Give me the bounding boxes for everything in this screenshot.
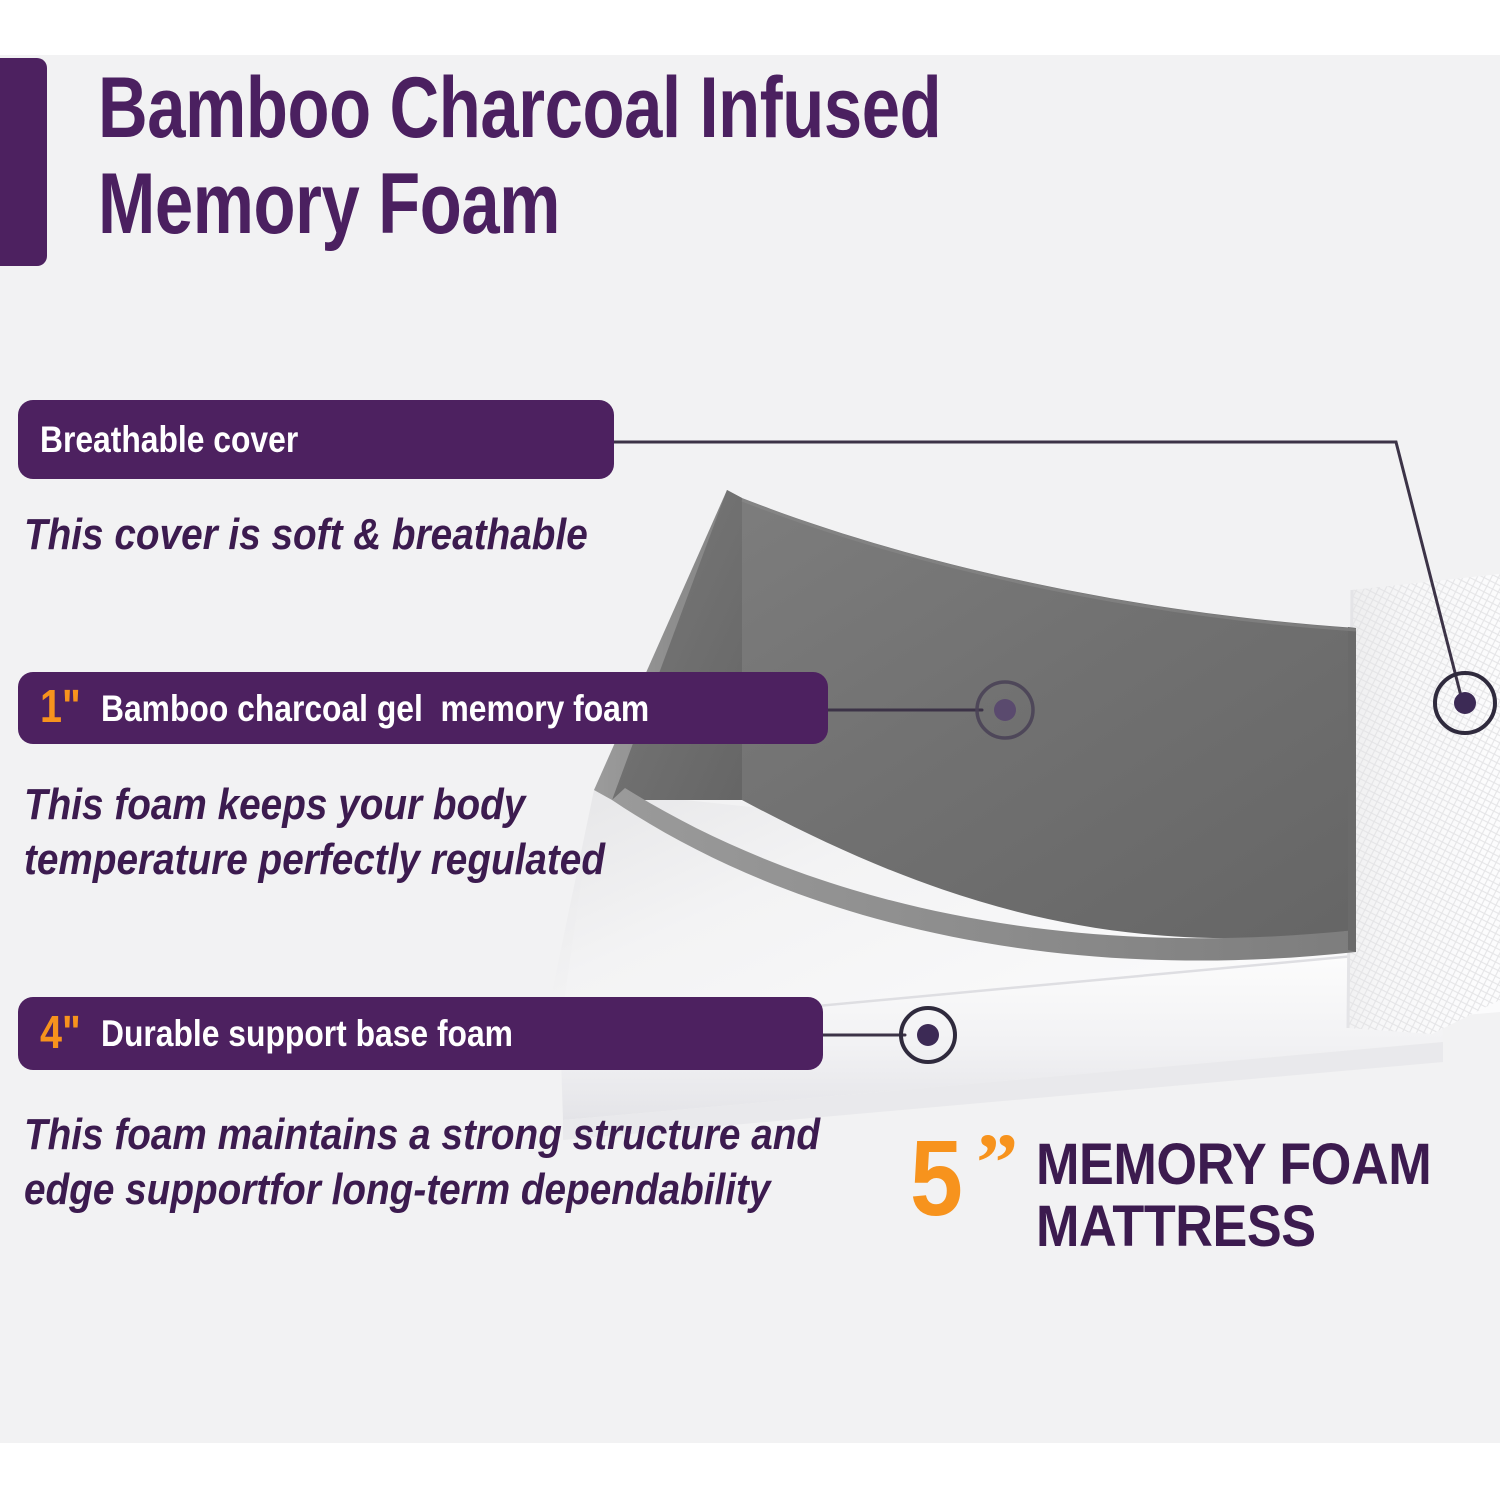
callout-description-base: This foam maintains a strong structure a… bbox=[24, 1108, 820, 1217]
desc-cover-line-1: This cover is soft & breathable bbox=[24, 508, 588, 563]
infographic-page: Bamboo Charcoal Infused Memory Foam bbox=[0, 0, 1500, 1500]
desc-gel-line-2: temperature perfectly regulated bbox=[24, 833, 605, 888]
desc-gel-line-1: This foam keeps your body bbox=[24, 778, 605, 833]
thickness-label-line-2: MATTRESS bbox=[1036, 1196, 1431, 1258]
page-title-line-2: Memory Foam bbox=[98, 156, 962, 252]
callout-measure-base: 4" bbox=[40, 1009, 81, 1055]
page-title-line-1: Bamboo Charcoal Infused bbox=[98, 60, 962, 156]
callout-pill-breathable-cover[interactable]: Breathable cover bbox=[18, 400, 614, 479]
thickness-number: 5 bbox=[910, 1128, 963, 1227]
callout-label-gel: Bamboo charcoal gel memory foam bbox=[101, 690, 649, 727]
callout-label-base: Durable support base foam bbox=[101, 1015, 513, 1052]
desc-base-line-2: edge supportfor long-term dependability bbox=[24, 1163, 820, 1218]
callout-pill-gel-memory-foam[interactable]: 1" Bamboo charcoal gel memory foam bbox=[18, 672, 828, 744]
desc-base-line-1: This foam maintains a strong structure a… bbox=[24, 1108, 820, 1163]
thickness-label-line-1: MEMORY FOAM bbox=[1036, 1134, 1431, 1196]
thickness-label: MEMORY FOAM MATTRESS bbox=[1036, 1134, 1431, 1258]
callout-pill-support-base-foam[interactable]: 4" Durable support base foam bbox=[18, 997, 823, 1070]
callout-label-cover: Breathable cover bbox=[40, 421, 298, 458]
header-accent-bar bbox=[0, 58, 47, 266]
page-title: Bamboo Charcoal Infused Memory Foam bbox=[98, 60, 962, 253]
callout-description-gel: This foam keeps your body temperature pe… bbox=[24, 778, 605, 887]
thickness-unit-icon: ” bbox=[976, 1122, 1018, 1206]
callout-description-cover: This cover is soft & breathable bbox=[24, 508, 588, 563]
callout-measure-gel: 1" bbox=[40, 683, 81, 729]
thickness-badge: 5 ” MEMORY FOAM MATTRESS bbox=[910, 1128, 1475, 1258]
